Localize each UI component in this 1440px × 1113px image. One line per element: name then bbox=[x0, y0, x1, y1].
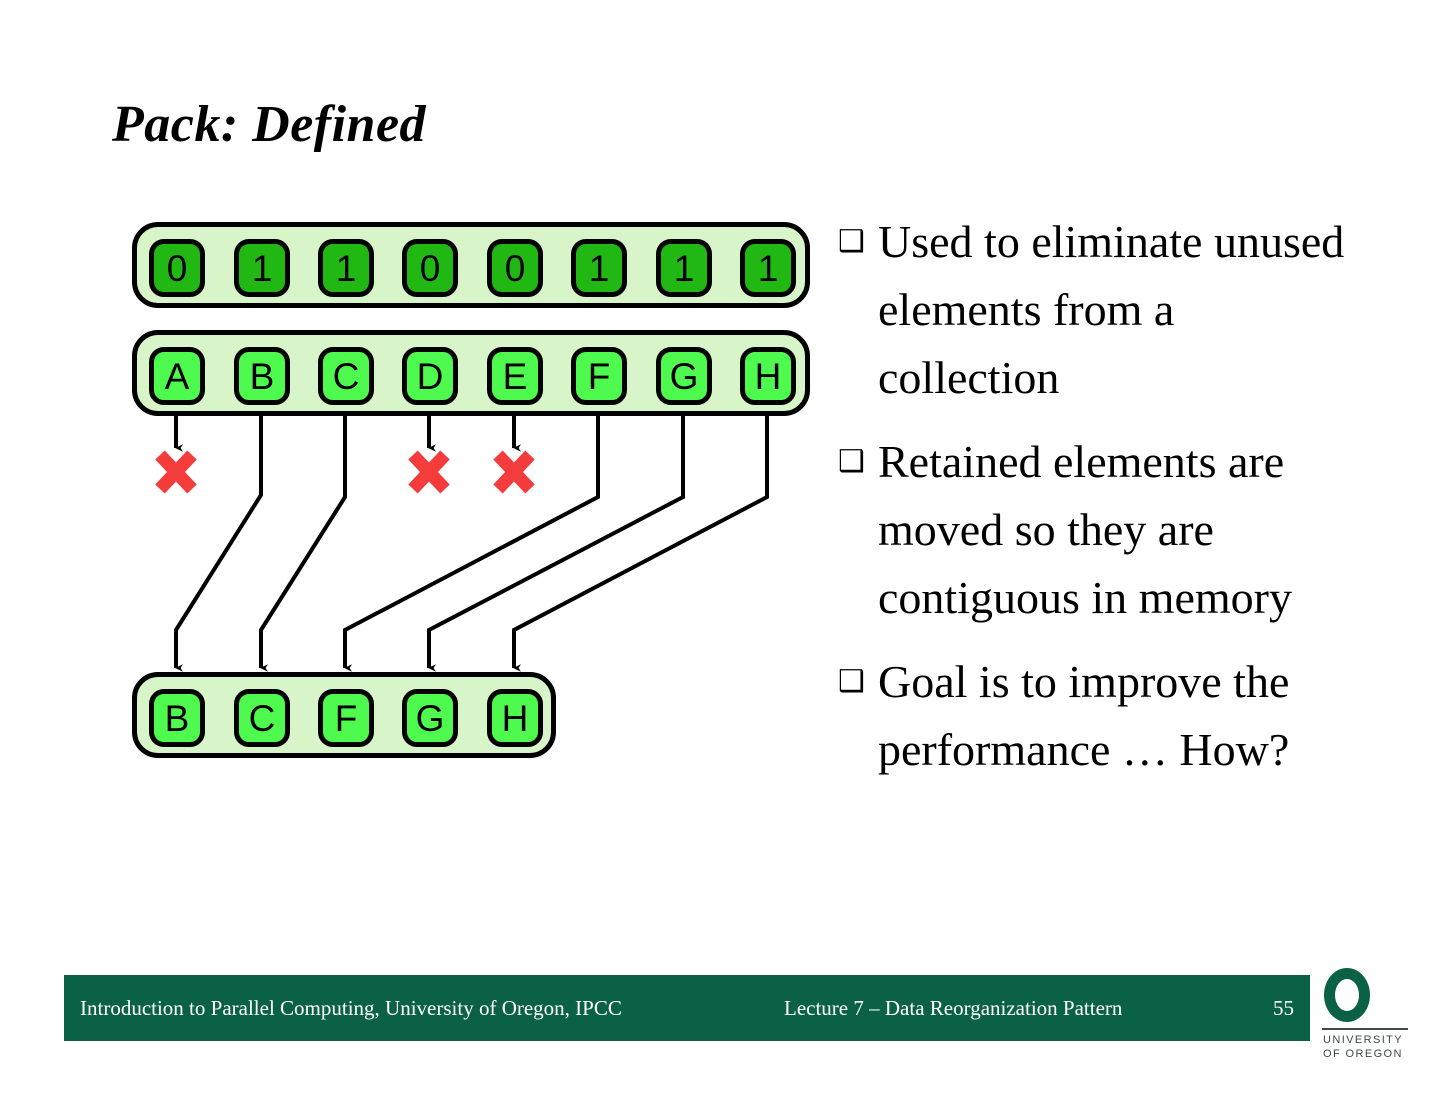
input-cell: A bbox=[149, 347, 205, 405]
bullet-item: ❑ Used to eliminate unused elements from… bbox=[838, 208, 1358, 412]
bullet-item: ❑ Goal is to improve the performance … H… bbox=[838, 648, 1358, 784]
bullet-text: Goal is to improve the performance … How… bbox=[878, 648, 1358, 784]
input-cell: E bbox=[487, 347, 543, 405]
footer-bar: Introduction to Parallel Computing, Univ… bbox=[64, 975, 1310, 1041]
output-cell: F bbox=[318, 689, 374, 747]
mask-cell: 1 bbox=[740, 239, 796, 297]
input-cell: H bbox=[740, 347, 796, 405]
pack-diagram: 0 1 1 0 0 1 1 1 A B C D E F G H B C F G … bbox=[0, 0, 860, 960]
footer-lecture-label: Lecture 7 – Data Reorganization Pattern bbox=[784, 975, 1122, 1041]
routing-wires bbox=[176, 412, 767, 668]
bullet-text: Used to eliminate unused elements from a… bbox=[878, 208, 1358, 412]
bullet-item: ❑ Retained elements are moved so they ar… bbox=[838, 428, 1358, 632]
mask-row: 0 1 1 0 0 1 1 1 bbox=[132, 222, 810, 308]
bullet-text: Retained elements are moved so they are … bbox=[878, 428, 1358, 632]
mask-cell: 1 bbox=[234, 239, 290, 297]
footer-course-label: Introduction to Parallel Computing, Univ… bbox=[80, 975, 622, 1041]
mask-cell: 1 bbox=[318, 239, 374, 297]
uo-o-mark-icon bbox=[1324, 968, 1370, 1022]
output-row: B C F G H bbox=[132, 672, 556, 758]
input-cell: B bbox=[234, 347, 290, 405]
output-cell: H bbox=[487, 689, 543, 747]
discard-x-icon bbox=[413, 455, 445, 489]
mask-cell: 1 bbox=[571, 239, 627, 297]
mask-cell: 0 bbox=[487, 239, 543, 297]
square-bullet-icon: ❑ bbox=[838, 428, 878, 496]
discard-x-icon bbox=[498, 455, 530, 489]
logo-line-oforegon: OF OREGON bbox=[1323, 1048, 1403, 1060]
slide-number: 55 bbox=[1254, 975, 1294, 1041]
discard-x-icons bbox=[160, 455, 530, 489]
mask-cell: 0 bbox=[402, 239, 458, 297]
input-row: A B C D E F G H bbox=[132, 330, 810, 416]
discard-arrows bbox=[176, 412, 514, 448]
discard-x-icon bbox=[160, 455, 192, 489]
university-of-oregon-logo: UNIVERSITY OF OREGON bbox=[1318, 968, 1414, 1060]
input-cell: D bbox=[402, 347, 458, 405]
output-cell: B bbox=[149, 689, 205, 747]
mask-cell: 1 bbox=[656, 239, 712, 297]
input-cell: G bbox=[656, 347, 712, 405]
wire-layer bbox=[0, 0, 860, 960]
input-cell: F bbox=[571, 347, 627, 405]
square-bullet-icon: ❑ bbox=[838, 208, 878, 276]
output-cell: G bbox=[402, 689, 458, 747]
input-cell: C bbox=[318, 347, 374, 405]
logo-line-university: UNIVERSITY bbox=[1323, 1034, 1403, 1046]
output-cell: C bbox=[234, 689, 290, 747]
bullet-list: ❑ Used to eliminate unused elements from… bbox=[838, 208, 1358, 800]
mask-cell: 0 bbox=[149, 239, 205, 297]
logo-divider bbox=[1322, 1028, 1408, 1030]
square-bullet-icon: ❑ bbox=[838, 648, 878, 716]
